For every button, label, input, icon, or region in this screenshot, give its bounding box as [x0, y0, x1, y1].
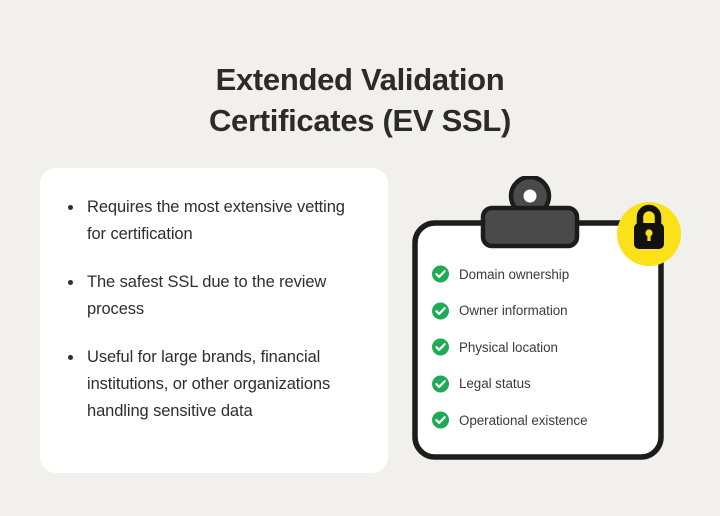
check-circle-icon [432, 375, 449, 392]
checklist-label: Physical location [459, 339, 558, 356]
checklist-label: Domain ownership [459, 266, 569, 283]
checklist-row: Physical location [428, 329, 668, 366]
checklist-row: Legal status [428, 366, 668, 403]
info-card: Requires the most extensive vetting for … [40, 168, 388, 473]
check-circle-icon [432, 302, 449, 319]
illustration-canvas: Extended Validation Certificates (EV SSL… [0, 0, 720, 516]
list-item: Requires the most extensive vetting for … [66, 194, 366, 248]
benefits-list: Requires the most extensive vetting for … [66, 194, 366, 425]
page-title-line-1: Extended Validation [0, 59, 720, 100]
clipboard-clip-hole [524, 190, 537, 203]
verification-checklist: Domain ownership Owner information Physi… [428, 256, 668, 439]
checklist-row: Domain ownership [428, 256, 668, 293]
page-title: Extended Validation Certificates (EV SSL… [0, 59, 720, 141]
list-item: Useful for large brands, financial insti… [66, 344, 366, 425]
clipboard-illustration: Domain ownership Owner information Physi… [404, 176, 694, 466]
checklist-label: Operational existence [459, 412, 587, 429]
check-circle-icon [432, 412, 449, 429]
checklist-label: Legal status [459, 375, 531, 392]
checklist-row: Operational existence [428, 402, 668, 439]
check-circle-icon [432, 266, 449, 283]
clipboard-clip-bar [483, 208, 577, 246]
list-item: The safest SSL due to the review process [66, 269, 366, 323]
checklist-label: Owner information [459, 302, 568, 319]
page-title-line-2: Certificates (EV SSL) [0, 100, 720, 141]
check-circle-icon [432, 339, 449, 356]
checklist-row: Owner information [428, 293, 668, 330]
